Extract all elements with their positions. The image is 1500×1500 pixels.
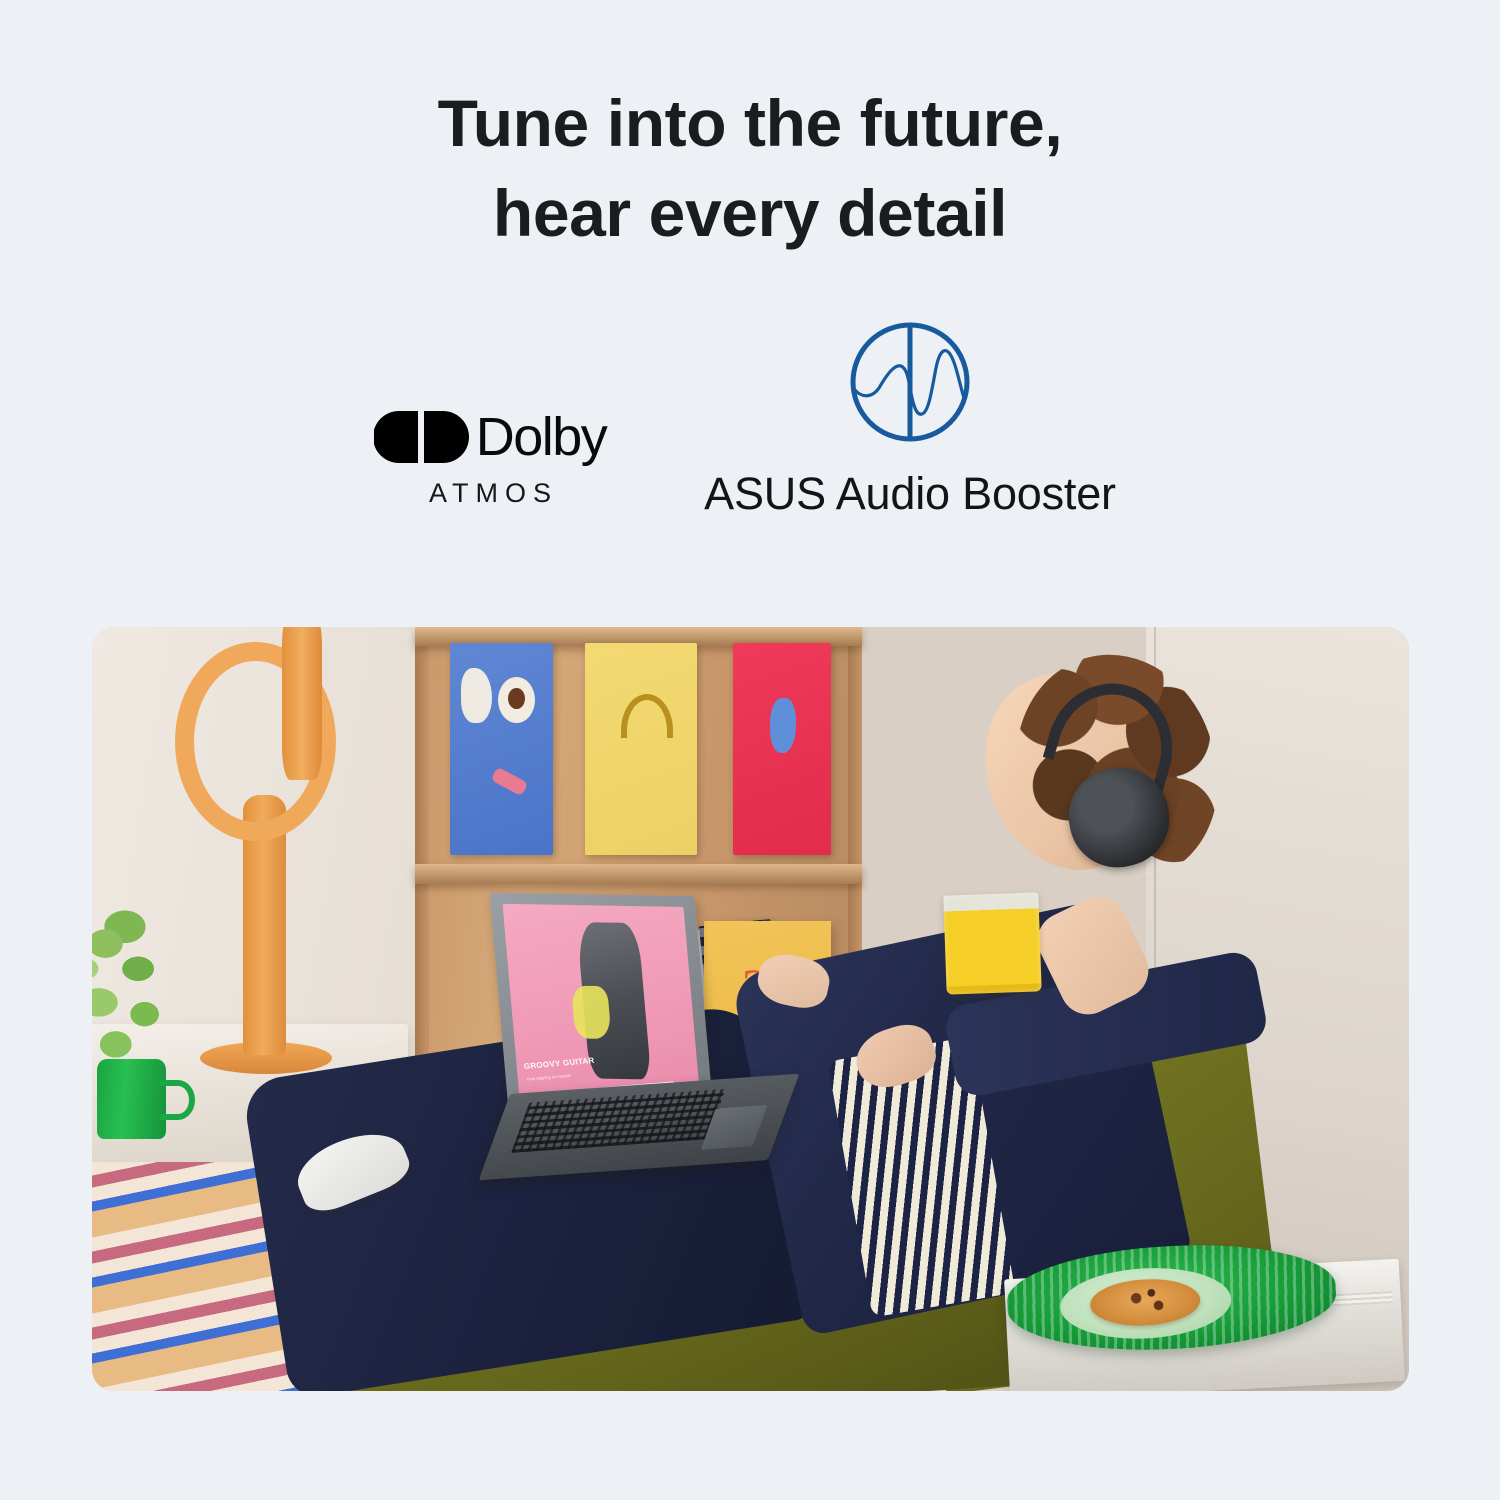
headline-line-2: hear every detail <box>0 168 1500 258</box>
pitcher-handle <box>160 1080 194 1120</box>
poster-blue-pen <box>490 767 528 797</box>
green-plate <box>1059 1263 1234 1342</box>
laptop-keyboard <box>511 1089 726 1153</box>
asus-audio-booster-label: ASUS Audio Booster <box>660 468 1160 520</box>
asus-audio-booster-logo: ASUS Audio Booster <box>660 318 1160 520</box>
poster-red-figure <box>733 643 832 855</box>
dolby-atmos-logo: Dolby ATMOS <box>362 406 618 509</box>
page-title: Tune into the future, hear every detail <box>0 78 1500 258</box>
audio-waveform-circle-icon <box>846 318 974 446</box>
poster-yellow-arc-shape <box>621 694 673 738</box>
orange-juice-glass <box>944 893 1042 996</box>
screen-track-title: GROOVY GUITAR <box>524 1056 596 1071</box>
poster-blue-coffee-dot <box>508 688 524 709</box>
dolby-mark: Dolby <box>362 406 618 468</box>
poster-blue-coffee <box>450 643 553 855</box>
headline-line-1: Tune into the future, <box>0 78 1500 168</box>
shelf-board-middle <box>415 864 863 883</box>
sculpture-arm <box>282 627 323 780</box>
laptop-screen: GROOVY GUITAR now playing on repeat <box>503 905 701 1109</box>
green-pitcher <box>97 1059 165 1139</box>
dolby-double-d-icon <box>374 409 472 465</box>
photo-scene: 25 GROOVY GU <box>92 627 1409 1391</box>
dolby-atmos-subtitle: ATMOS <box>362 478 618 509</box>
poster-yellow-arc <box>585 643 697 855</box>
pastry <box>1090 1276 1202 1328</box>
certification-logo-row: Dolby ATMOS ASUS Audio Booster <box>0 318 1500 548</box>
screen-guitar-shape <box>571 986 612 1039</box>
poster-red-figure-shape <box>770 698 796 753</box>
dolby-wordmark: Dolby <box>476 409 607 465</box>
lifestyle-photo: 25 GROOVY GU <box>92 627 1409 1391</box>
screen-track-subtitle: now playing on repeat <box>527 1073 572 1082</box>
poster-blue-shape <box>461 668 492 723</box>
potted-plant <box>92 910 197 1078</box>
